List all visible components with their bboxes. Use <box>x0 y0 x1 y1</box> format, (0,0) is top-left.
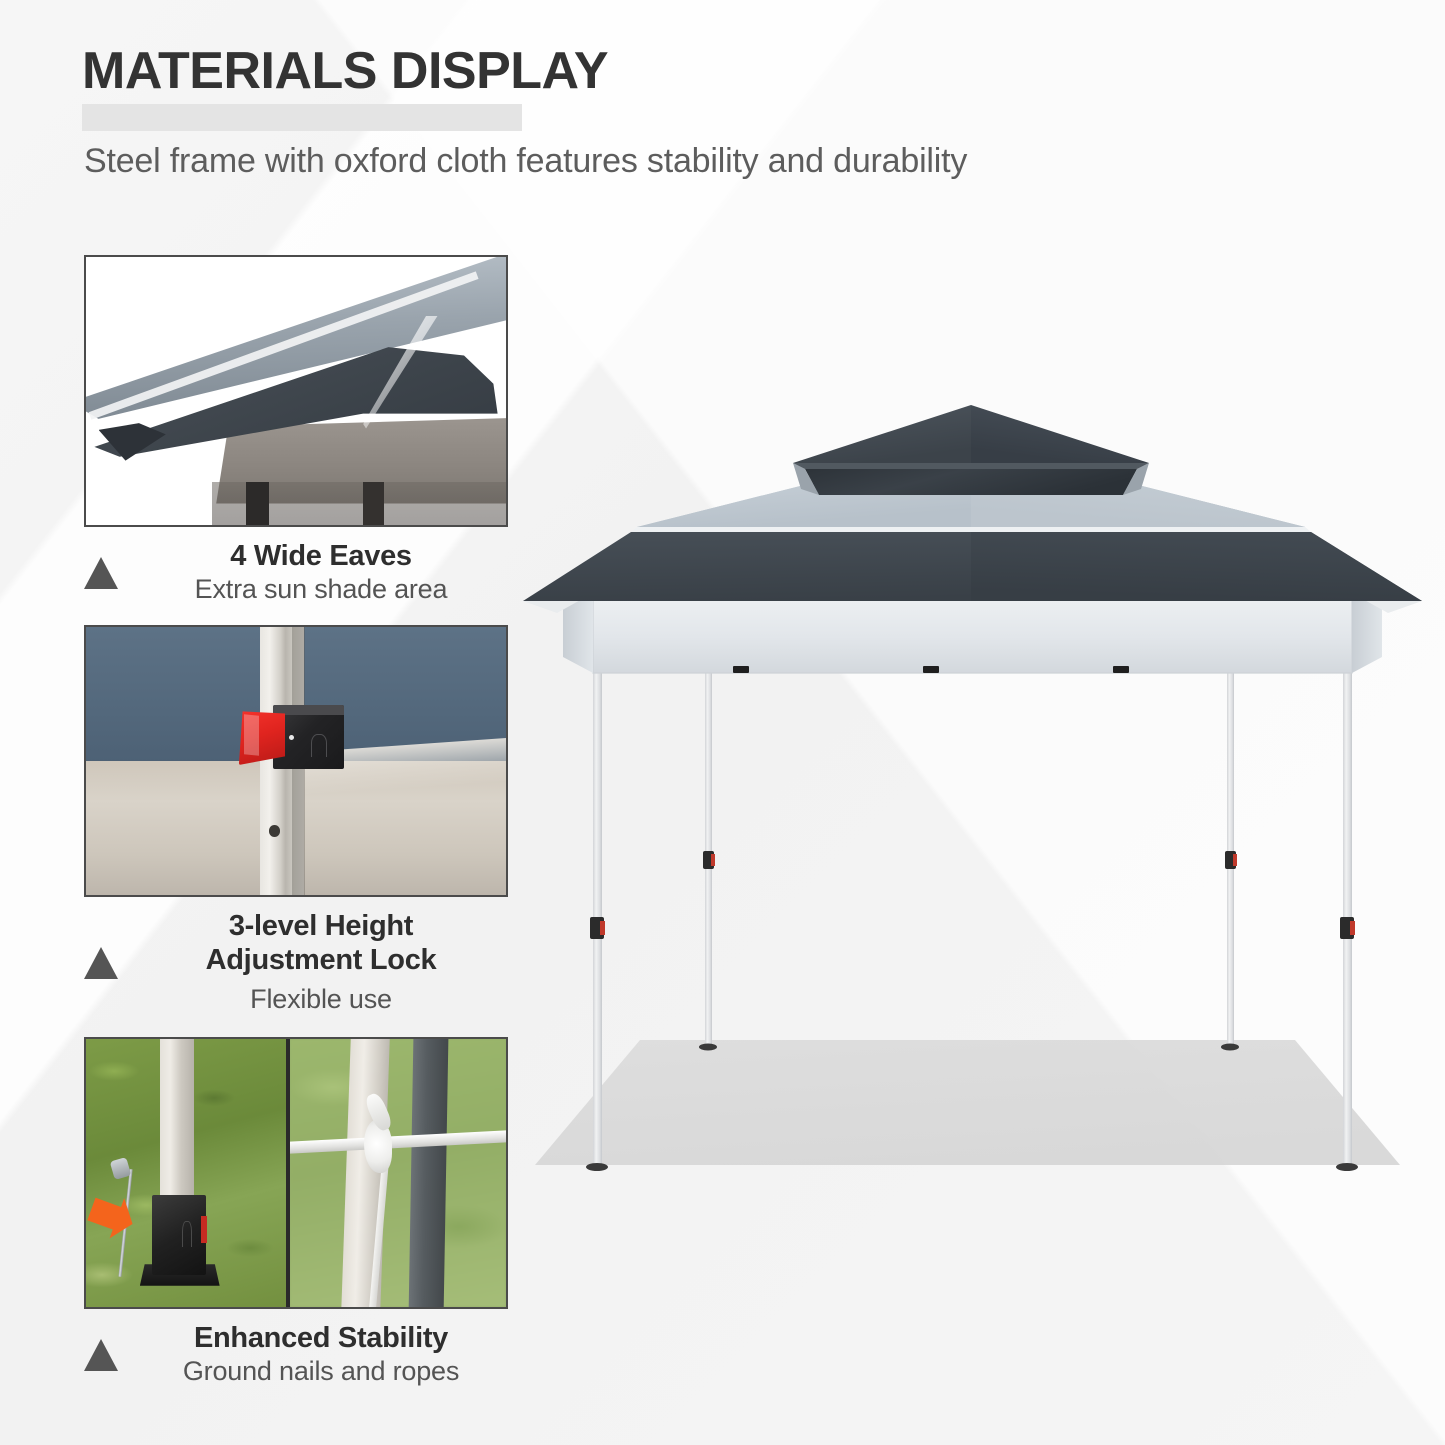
valance-front <box>593 593 1352 673</box>
eave-leg-right <box>363 482 384 527</box>
materials-display-page: MATERIALS DISPLAY Steel frame with oxfor… <box>0 0 1445 1445</box>
product-hero-image <box>505 405 1440 1195</box>
vent-peak-front <box>793 463 1149 469</box>
lock-pin-hole <box>269 825 280 836</box>
grass-background-right <box>290 1039 506 1307</box>
canopy-pinstripe <box>631 527 1311 532</box>
stability-left-photo <box>86 1039 286 1307</box>
vent-peak-left <box>793 405 971 463</box>
feature-image-height-lock <box>84 625 508 897</box>
vent-peak-right <box>971 405 1149 463</box>
feature-image-stability <box>84 1037 508 1309</box>
eave-leg-left <box>246 482 269 527</box>
feature-subtitle: Flexible use <box>128 983 514 1017</box>
triangle-bullet-icon <box>84 557 118 589</box>
feature-caption-height-lock: 3-level Height Adjustment Lock Flexible … <box>84 897 514 1021</box>
feature-stability: Enhanced Stability Ground nails and rope… <box>84 1037 514 1393</box>
page-subtitle: Steel frame with oxford cloth features s… <box>84 142 967 181</box>
stability-right-photo <box>290 1039 506 1307</box>
feature-height-lock: 3-level Height Adjustment Lock Flexible … <box>84 625 514 1021</box>
title-highlight-bar <box>82 104 522 131</box>
floor-slab <box>535 1040 1400 1165</box>
feature-wide-eaves: 4 Wide Eaves Extra sun shade area <box>84 255 514 611</box>
feature-subtitle: Extra sun shade area <box>128 573 514 607</box>
feature-caption-wide-eaves: 4 Wide Eaves Extra sun shade area <box>84 527 514 611</box>
feature-title: 4 Wide Eaves <box>128 539 514 573</box>
canopy-dark-band-right <box>971 532 1422 601</box>
triangle-bullet-icon <box>84 947 118 979</box>
leg-back-right <box>1221 667 1239 1051</box>
lock-bracket-slot <box>311 734 327 756</box>
vent-skirt <box>805 469 1137 495</box>
foot-red-marker <box>201 1216 207 1243</box>
feature-subtitle: Ground nails and ropes <box>128 1355 514 1389</box>
foot-bracket-slot <box>182 1221 192 1246</box>
gazebo-pole-back <box>408 1039 448 1307</box>
feature-image-wide-eaves <box>84 255 508 527</box>
triangle-bullet-icon <box>84 1339 118 1371</box>
leg-back-left <box>699 667 717 1051</box>
feature-title-line1: 3-level Height <box>128 909 514 943</box>
gazebo-illustration <box>505 405 1440 1195</box>
feature-caption-stability: Enhanced Stability Ground nails and rope… <box>84 1309 514 1393</box>
lock-lever-highlight <box>244 715 259 757</box>
page-header: MATERIALS DISPLAY <box>82 44 982 99</box>
feature-title-line2: Adjustment Lock <box>128 943 514 977</box>
feature-list: 4 Wide Eaves Extra sun shade area <box>84 255 514 1393</box>
foot-bracket <box>152 1195 206 1275</box>
page-title: MATERIALS DISPLAY <box>82 44 982 99</box>
feature-title: Enhanced Stability <box>128 1321 514 1355</box>
